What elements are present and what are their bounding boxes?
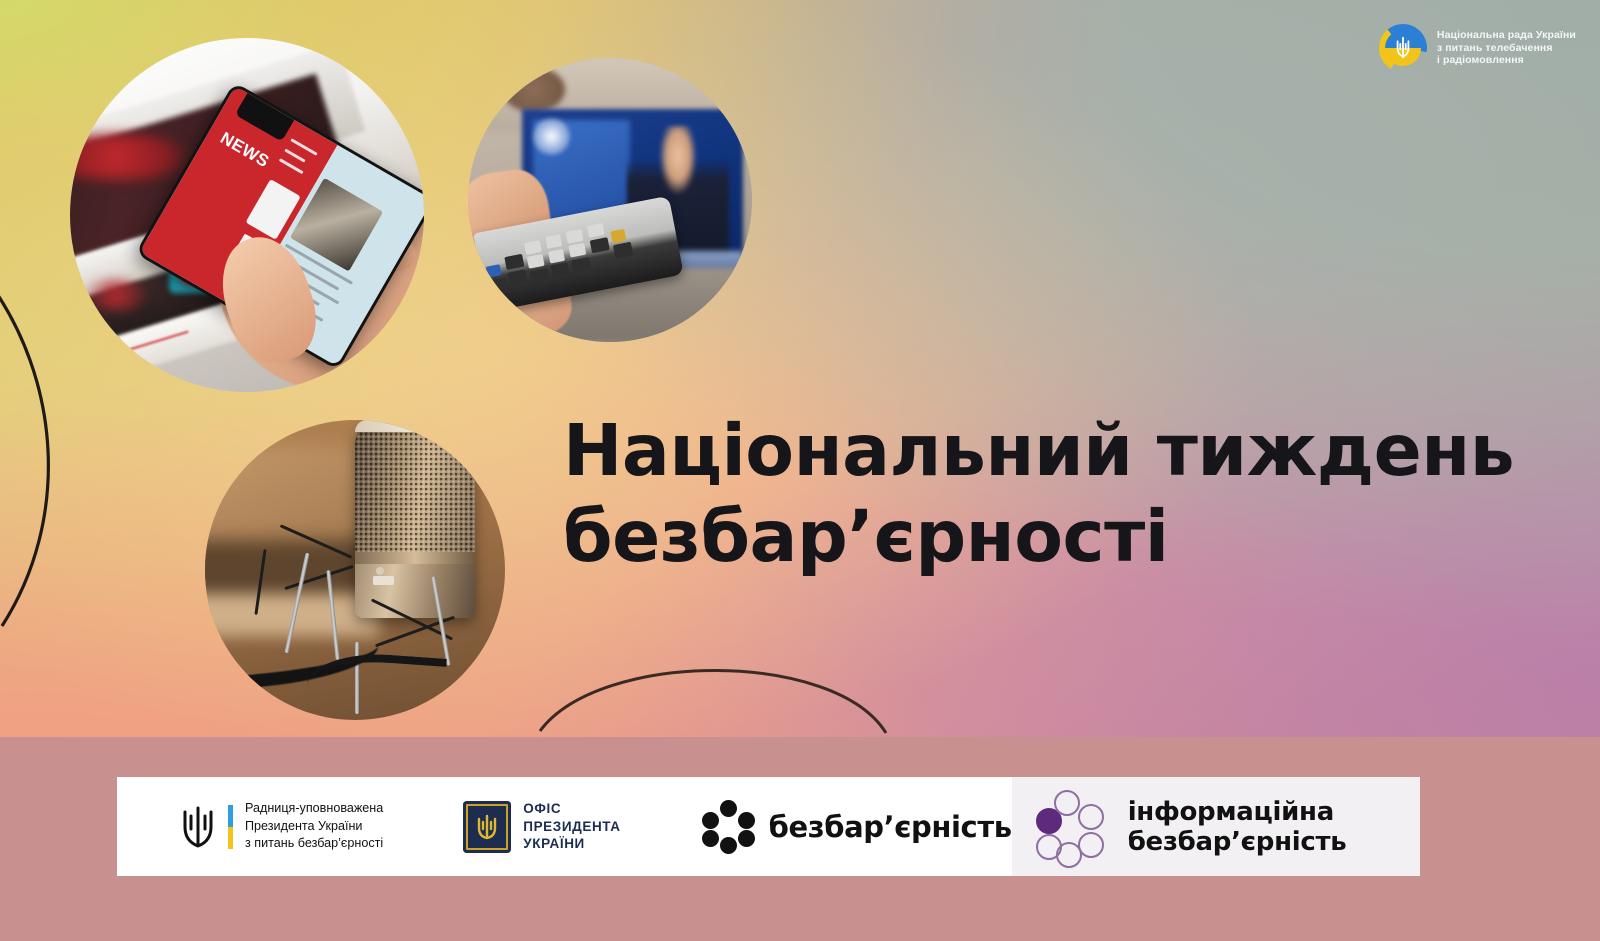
poster-title: Національний тиждень безбар’єрності (563, 408, 1543, 580)
partner-logo-commissioner[interactable]: Радниця-уповноважена Президента України … (117, 800, 383, 853)
partner-panel-grey: інформаційна безбар’єрність (1012, 777, 1420, 876)
commissioner-line-1: Радниця-уповноважена (245, 800, 383, 818)
national-council-text: Національна рада України з питань телеба… (1437, 29, 1576, 66)
barrier-free-wordmark: безбар’єрність (769, 810, 1012, 844)
trident-outline-icon (180, 805, 216, 849)
national-council-logo: Національна рада України з питань телеба… (1379, 24, 1576, 72)
photo-studio-microphone (205, 420, 505, 720)
inf-line-2: безбар’єрність (1128, 827, 1347, 857)
poster-canvas: NEWS (0, 0, 1600, 941)
regulator-line-3: і радіомовлення (1437, 54, 1576, 66)
office-line-3: УКРАЇНИ (523, 835, 620, 853)
photo-smartphone-news: NEWS (70, 38, 424, 392)
title-line-1: Національний тиждень (563, 409, 1514, 492)
commissioner-line-3: з питань безбар’єрності (245, 835, 383, 853)
partner-logo-office-president[interactable]: ОФІС ПРЕЗИДЕНТА УКРАЇНИ (383, 800, 620, 853)
office-line-1: ОФІС (523, 800, 620, 818)
barrier-free-dots-icon (701, 800, 755, 854)
commissioner-line-2: Президента України (245, 818, 383, 836)
commissioner-text: Радниця-уповноважена Президента України … (245, 800, 383, 853)
regulator-line-1: Національна рада України (1437, 29, 1576, 41)
photo-tv-remote (468, 58, 752, 342)
information-barrier-free-dots-icon (1036, 790, 1110, 864)
partner-logo-information-barrier-free[interactable]: інформаційна безбар’єрність (1012, 790, 1347, 864)
information-barrier-free-wordmark: інформаційна безбар’єрність (1128, 797, 1347, 857)
office-line-2: ПРЕЗИДЕНТА (523, 818, 620, 836)
gold-trident-icon (476, 814, 498, 840)
partner-logo-panel: Радниця-уповноважена Президента України … (117, 777, 1420, 876)
national-council-emblem-icon (1379, 24, 1427, 72)
trident-icon (1394, 37, 1412, 59)
partner-panel-white: Радниця-уповноважена Президента України … (117, 777, 1012, 876)
office-president-text: ОФІС ПРЕЗИДЕНТА УКРАЇНИ (523, 800, 620, 853)
president-emblem-icon (463, 801, 511, 853)
ukraine-flag-bar-icon (228, 805, 233, 849)
partner-logo-barrier-free[interactable]: безбар’єрність (621, 800, 1012, 854)
regulator-line-2: з питань телебачення (1437, 42, 1576, 54)
inf-line-1: інформаційна (1128, 797, 1347, 827)
title-line-2: безбар’єрності (563, 494, 1543, 580)
